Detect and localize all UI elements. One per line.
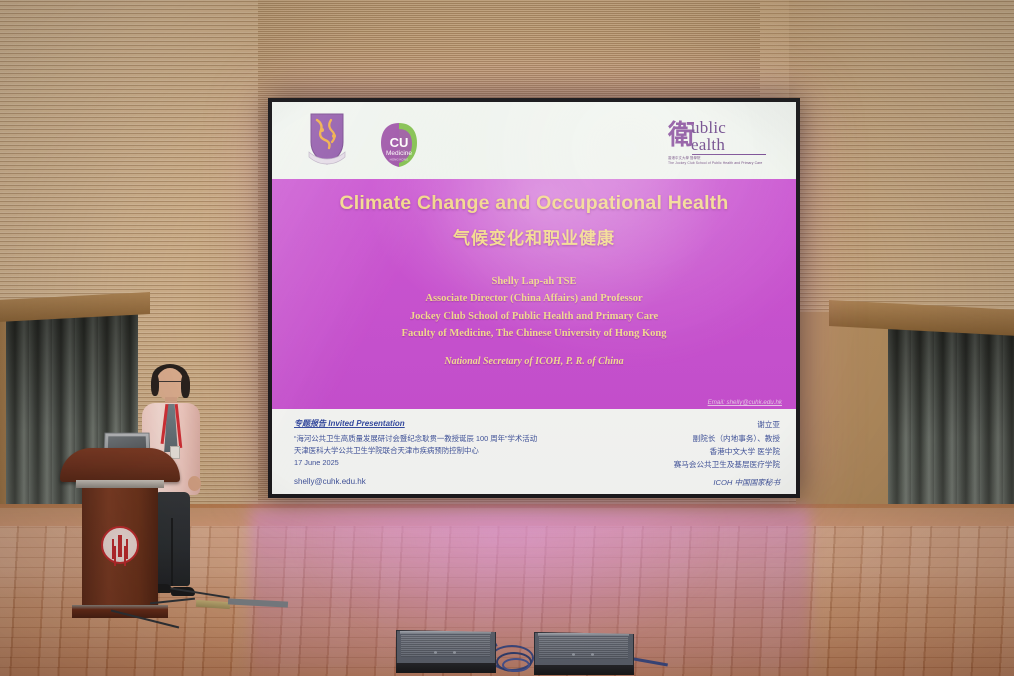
author-school: Jockey Club School of Public Health and …: [272, 308, 796, 325]
footer-speaker-name-cn: 谢立亚: [674, 418, 780, 431]
public-health-rule: [692, 154, 766, 155]
footer-event-date: 17 June 2025: [294, 457, 537, 469]
stage-monitor-left-grille: [401, 635, 490, 657]
public-health-subtitle: 香港中文大學 醫學院 The Jockey Club School of Pub…: [668, 156, 768, 166]
projection-screen-frame: CU Medicine HONG KONG 衛 ublic ealth 香港中文…: [268, 98, 800, 498]
footer-speaker-title-cn: 副院长（内地事务）、教授: [674, 432, 780, 445]
footer-heading: 专题报告 Invited Presentation: [294, 418, 537, 431]
stage-monitor-right-dot-1: [572, 653, 575, 656]
stage-monitor-right-face: [534, 632, 634, 666]
stage-monitor-left-face: [396, 630, 496, 664]
lectern-emblem-icon: [101, 526, 139, 564]
stage-monitor-left: [396, 630, 496, 664]
stage-monitor-right-strip: [538, 633, 629, 636]
lectern-top: [60, 448, 180, 482]
slide-title-chinese: 气候变化和职业健康: [272, 224, 796, 249]
stage-monitor-right-base: [534, 665, 634, 675]
icoh-secretary-line: National Secretary of ICOH, P. R. of Chi…: [272, 356, 796, 367]
lectern-trim: [76, 480, 164, 488]
public-health-word-health: ealth: [691, 136, 726, 153]
slide-title-english: Climate Change and Occupational Health: [272, 192, 796, 215]
slide-email-small: Email: shelly@cuhk.edu.hk: [708, 399, 782, 406]
author-faculty: Faculty of Medicine, The Chinese Univers…: [272, 325, 796, 342]
footer-email: shelly@cuhk.edu.hk: [294, 476, 537, 489]
public-health-word-public: ublic: [691, 119, 726, 136]
footer-left-block: 专题报告 Invited Presentation “海河公共卫生高质量发展研讨…: [294, 418, 537, 494]
slide-author-block: Shelly Lap-ah TSE Associate Director (Ch…: [272, 273, 796, 342]
stage-monitor-left-dot-1: [434, 651, 437, 654]
footer-org-2: 赛马会公共卫生及基层医疗学院: [674, 458, 780, 471]
stage-monitor-right-dot-2: [591, 653, 594, 656]
footer-icoh-role-cn: ICOH 中国国家秘书: [674, 476, 780, 489]
slide-footer-band: 专题报告 Invited Presentation “海河公共卫生高质量发展研讨…: [272, 409, 796, 494]
footer-heading-en: Invited Presentation: [328, 419, 404, 428]
stage-monitor-right: [534, 632, 634, 666]
slide-header-band: CU Medicine HONG KONG 衛 ublic ealth 香港中文…: [272, 102, 796, 179]
presenter-hair-right: [181, 374, 190, 398]
footer-event-line2: 天津医科大学公共卫生学院联合天津市疾病预防控制中心: [294, 445, 537, 457]
footer-right-block: 谢立亚 副院长（内地事务）、教授 香港中文大学 医学院 赛马会公共卫生及基层医疗…: [674, 418, 780, 494]
stage-monitor-right-grille: [539, 637, 628, 659]
public-health-logo: 衛 ublic ealth 香港中文大學 醫學院 The Jockey Club…: [668, 118, 768, 170]
stage-monitor-left-base: [396, 663, 496, 673]
presenter-hand: [188, 476, 201, 491]
presenter-glasses: [159, 381, 181, 386]
svg-text:CU: CU: [390, 135, 409, 150]
stage-monitor-left-strip: [400, 631, 491, 634]
lectern: [60, 448, 180, 618]
public-health-wordmark: ublic ealth: [691, 119, 726, 154]
presenter-hair-left: [151, 374, 159, 396]
lecture-hall-photo: CU Medicine HONG KONG 衛 ublic ealth 香港中文…: [0, 0, 1014, 676]
cuhk-crest-icon: [307, 112, 347, 168]
stage-monitor-left-dot-2: [453, 651, 456, 654]
footer-org-1: 香港中文大学 医学院: [674, 445, 780, 458]
svg-text:Medicine: Medicine: [386, 150, 412, 157]
cu-medicine-logo-icon: CU Medicine HONG KONG: [377, 120, 421, 168]
coiled-cable-3: [502, 658, 530, 672]
footer-event-line1: “海河公共卫生高质量发展研讨会暨纪念耿贯一教授诞辰 100 周年”学术活动: [294, 433, 537, 445]
author-name: Shelly Lap-ah TSE: [272, 273, 796, 290]
footer-heading-cn: 专题报告: [294, 419, 326, 428]
svg-text:HONG KONG: HONG KONG: [390, 158, 409, 162]
author-role: Associate Director (China Affairs) and P…: [272, 290, 796, 307]
projection-screen: CU Medicine HONG KONG 衛 ublic ealth 香港中文…: [272, 102, 796, 494]
slide-body: Climate Change and Occupational Health 气…: [272, 179, 796, 409]
public-health-sub-en: The Jockey Club School of Public Health …: [668, 161, 768, 166]
